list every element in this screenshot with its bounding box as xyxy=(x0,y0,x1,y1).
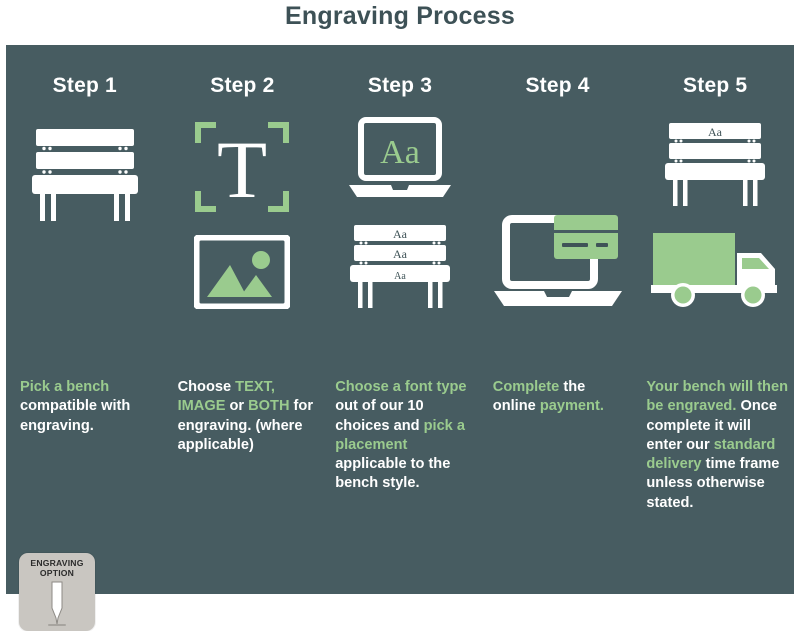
desc-seg: payment. xyxy=(540,398,604,414)
engraving-option-badge[interactable]: ENGRAVING OPTION xyxy=(19,553,95,631)
desc-seg: Choose xyxy=(178,379,236,395)
steps-panel: Step 1 xyxy=(6,45,794,594)
desc-seg: out of our 10 choices and xyxy=(335,398,423,433)
svg-text:Aa: Aa xyxy=(393,227,408,241)
infographic-root: Engraving Process Step 1 xyxy=(0,0,800,600)
delivery-truck-icon xyxy=(649,229,781,311)
step-description-2: Choose TEXT, IMAGE or BOTH for engraving… xyxy=(178,378,314,455)
badge-label-line2: OPTION xyxy=(40,568,74,578)
desc-seg: Complete xyxy=(493,379,564,395)
desc-seg: compatible with engraving. xyxy=(20,398,130,433)
step-art-2: T xyxy=(164,117,322,377)
step-art-3: Aa Aa Aa Aa xyxy=(321,117,479,377)
desc-seg: Pick a bench xyxy=(20,379,109,395)
steps-columns: Step 1 xyxy=(6,45,794,594)
laptop-screen-text: Aa xyxy=(380,134,420,171)
step-art-4 xyxy=(479,117,637,377)
desc-seg: Choose a font type xyxy=(335,379,466,395)
step-heading-2: Step 2 xyxy=(164,74,322,98)
step-art-5: Aa xyxy=(636,117,794,377)
step-description-3: Choose a font type out of our 10 choices… xyxy=(335,378,471,494)
step-description-4: Complete the online payment. xyxy=(493,378,629,417)
desc-seg: applicable to the bench style. xyxy=(335,456,450,491)
chisel-icon xyxy=(44,580,70,626)
svg-text:Aa: Aa xyxy=(393,247,408,261)
step-description-1: Pick a bench compatible with engraving. xyxy=(20,378,156,436)
bench-icon xyxy=(20,117,150,227)
step-art-1 xyxy=(6,117,164,377)
step-column-3: Step 3 Aa Aa xyxy=(321,45,479,594)
text-icon-glyph: T xyxy=(217,124,267,215)
step-heading-5: Step 5 xyxy=(636,74,794,98)
step-column-5: Step 5 Aa xyxy=(636,45,794,594)
page-title: Engraving Process xyxy=(0,2,800,31)
step-column-2: Step 2 T xyxy=(164,45,322,594)
image-icon xyxy=(194,235,290,309)
step-heading-1: Step 1 xyxy=(6,74,164,98)
text-selection-icon: T xyxy=(192,117,292,217)
bench-placement-icon: Aa Aa Aa xyxy=(340,219,460,317)
engraved-bench-icon: Aa xyxy=(655,117,775,213)
bench-engraved-text: Aa xyxy=(708,125,723,139)
step-heading-3: Step 3 xyxy=(321,74,479,98)
badge-label: ENGRAVING OPTION xyxy=(19,559,95,579)
laptop-payment-icon xyxy=(492,211,624,317)
step-description-5: Your bench will then be engraved. Once c… xyxy=(646,378,788,513)
svg-text:Aa: Aa xyxy=(394,271,406,282)
step-column-4: Step 4 xyxy=(479,45,637,594)
badge-label-line1: ENGRAVING xyxy=(30,558,83,568)
laptop-font-icon: Aa xyxy=(345,117,455,205)
step-column-1: Step 1 xyxy=(6,45,164,594)
desc-seg: or xyxy=(229,398,248,414)
desc-seg: BOTH xyxy=(248,398,293,414)
step-heading-4: Step 4 xyxy=(479,74,637,98)
